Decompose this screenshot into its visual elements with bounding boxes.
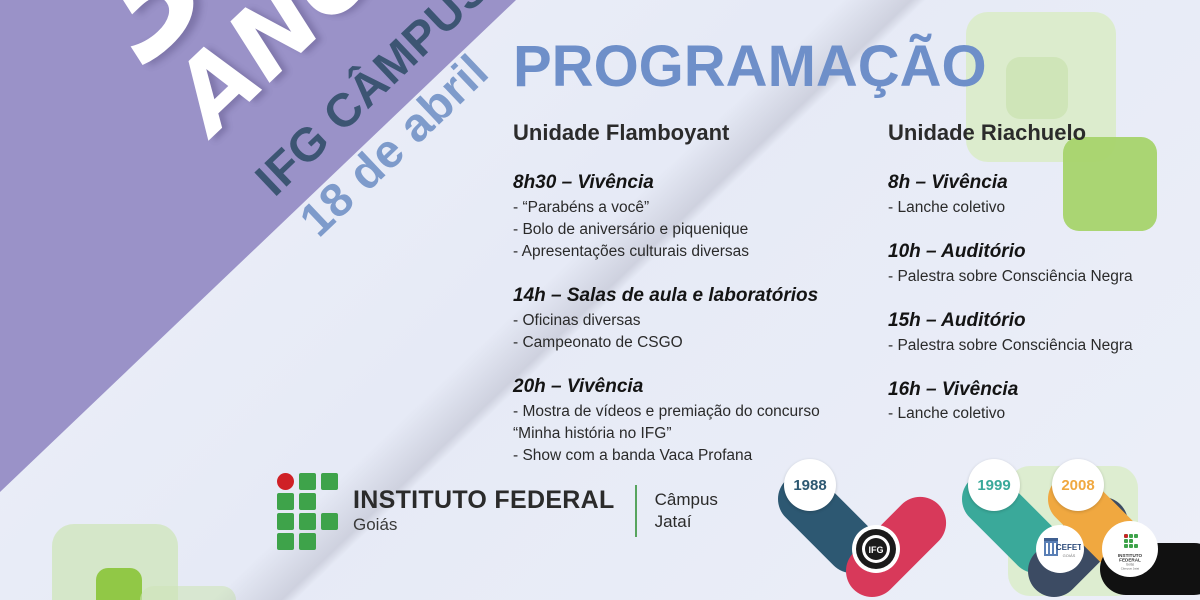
schedule-detail-line: - Palestra sobre Consciência Negra bbox=[888, 266, 1198, 288]
logo-divider bbox=[635, 485, 637, 537]
schedule-block: 14h – Salas de aula e laboratórios - Ofi… bbox=[513, 285, 883, 354]
logo-state-name: Goiás bbox=[353, 514, 615, 535]
schedule-block: 8h – Vivência - Lanche coletivo bbox=[888, 172, 1198, 219]
schedule-detail-line: - Lanche coletivo bbox=[888, 197, 1198, 219]
schedule-detail-line: “Minha história no IFG” bbox=[513, 423, 883, 445]
logo-campus-line1: Câmpus bbox=[655, 489, 718, 511]
schedule-detail-line: - Campeonato de CSGO bbox=[513, 332, 883, 354]
schedule-time-title: 16h – Vivência bbox=[888, 379, 1198, 401]
schedule-column-riachuelo: Unidade Riachuelo 8h – Vivência - Lanche… bbox=[888, 120, 1198, 447]
schedule-block: 8h30 – Vivência - “Parabéns a você” - Bo… bbox=[513, 172, 883, 263]
decor-green-square-bottomleft-pale2 bbox=[140, 586, 236, 600]
column-heading: Unidade Flamboyant bbox=[513, 120, 883, 146]
schedule-detail-line: - “Parabéns a você” bbox=[513, 197, 883, 219]
logo-campus-block: Câmpus Jataí bbox=[655, 489, 718, 533]
page-title: PROGRAMAÇÃO bbox=[513, 33, 987, 100]
schedule-detail-line: - Apresentações culturais diversas bbox=[513, 241, 883, 263]
column-heading: Unidade Riachuelo bbox=[888, 120, 1198, 146]
cefet-logo-icon: CEFET GOIÁS bbox=[1036, 525, 1084, 573]
schedule-detail-line: - Oficinas diversas bbox=[513, 310, 883, 332]
schedule-detail-line: - Lanche coletivo bbox=[888, 403, 1198, 425]
schedule-time-title: 20h – Vivência bbox=[513, 376, 883, 398]
timeline-year-badge-1999: 1999 bbox=[968, 459, 1020, 511]
ifg-logo-mark-icon bbox=[277, 473, 339, 549]
institution-logo: INSTITUTO FEDERAL Goiás Câmpus Jataí bbox=[277, 473, 718, 549]
schedule-block: 20h – Vivência - Mostra de vídeos e prem… bbox=[513, 376, 883, 467]
logo-wordmark: INSTITUTO FEDERAL Goiás bbox=[353, 487, 615, 536]
schedule-detail-line: - Palestra sobre Consciência Negra bbox=[888, 335, 1198, 357]
schedule-block: 10h – Auditório - Palestra sobre Consciê… bbox=[888, 241, 1198, 288]
ifg-gear-logo-icon: IFG bbox=[852, 525, 900, 573]
svg-text:IFG: IFG bbox=[869, 545, 884, 555]
logo-institute-name: INSTITUTO FEDERAL bbox=[353, 487, 615, 513]
timeline-year-label: 1999 bbox=[977, 477, 1010, 494]
schedule-time-title: 14h – Salas de aula e laboratórios bbox=[513, 285, 883, 307]
timeline-year-badge-2008: 2008 bbox=[1052, 459, 1104, 511]
decor-green-square-top-inner bbox=[1006, 57, 1068, 119]
svg-text:Câmpus Jataí: Câmpus Jataí bbox=[1121, 567, 1140, 571]
schedule-block: 15h – Auditório - Palestra sobre Consciê… bbox=[888, 310, 1198, 357]
instituto-federal-logo-icon: INSTITUTO FEDERAL Goiás Câmpus Jataí bbox=[1102, 521, 1158, 577]
schedule-column-flamboyant: Unidade Flamboyant 8h30 – Vivência - “Pa… bbox=[513, 120, 883, 489]
schedule-detail-line: - Mostra de vídeos e premiação do concur… bbox=[513, 401, 883, 423]
svg-text:CEFET: CEFET bbox=[1056, 543, 1081, 552]
timeline-year-label: 2008 bbox=[1061, 477, 1094, 494]
schedule-detail-line: - Bolo de aniversário e piquenique bbox=[513, 219, 883, 241]
logo-campus-line2: Jataí bbox=[655, 511, 718, 533]
schedule-time-title: 8h – Vivência bbox=[888, 172, 1198, 194]
svg-text:GOIÁS: GOIÁS bbox=[1063, 553, 1076, 558]
schedule-block: 16h – Vivência - Lanche coletivo bbox=[888, 379, 1198, 426]
schedule-time-title: 15h – Auditório bbox=[888, 310, 1198, 332]
timeline-year-badge-1988: 1988 bbox=[784, 459, 836, 511]
schedule-time-title: 8h30 – Vivência bbox=[513, 172, 883, 194]
timeline-year-label: 1988 bbox=[793, 477, 826, 494]
schedule-time-title: 10h – Auditório bbox=[888, 241, 1198, 263]
history-timeline: 1988 1999 2008 IFG bbox=[770, 455, 1200, 600]
decor-green-square-bottomleft-solid bbox=[96, 568, 142, 600]
poster-canvas: 30 ANOS IFG CÂMPUS JATAÍ 18 de abril PRO… bbox=[0, 0, 1200, 600]
